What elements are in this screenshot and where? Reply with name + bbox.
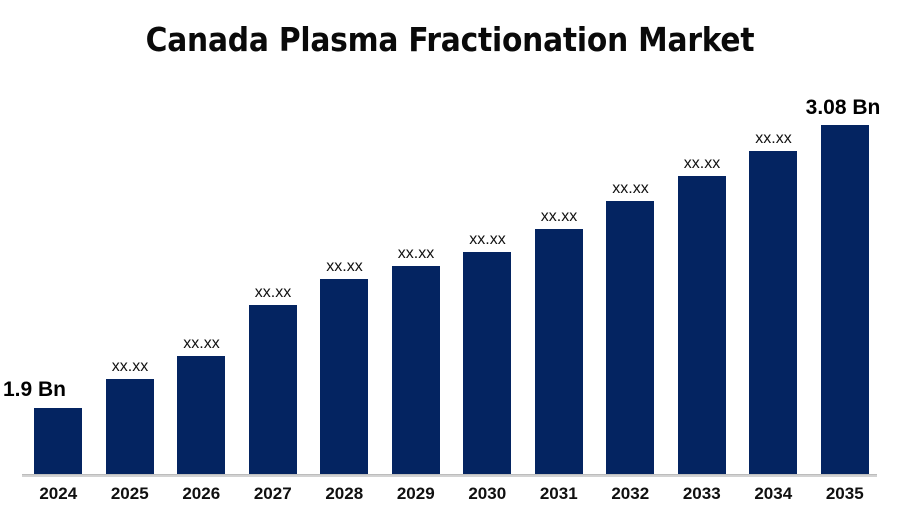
bar-group-2024: 1.9 Bn 2024 <box>23 0 95 525</box>
bar-group-2034: xx.xx 2034 <box>738 0 810 525</box>
bar-2029[interactable] <box>392 266 440 474</box>
bar-2034[interactable] <box>749 151 797 474</box>
bar-group-2030: xx.xx 2030 <box>452 0 524 525</box>
x-tick-label-2024: 2024 <box>23 484 95 504</box>
bar-value-label-2035: 3.08 Bn <box>793 96 893 120</box>
x-tick-label-2029: 2029 <box>380 484 452 504</box>
bar-2033[interactable] <box>678 176 726 474</box>
bar-group-2031: xx.xx 2031 <box>523 0 595 525</box>
bar-group-2035: 3.08 Bn 2035 <box>809 0 881 525</box>
bar-2027[interactable] <box>249 305 297 474</box>
x-tick-label-2032: 2032 <box>595 484 667 504</box>
chart-container: Canada Plasma Fractionation Market 1.9 B… <box>0 0 900 525</box>
bar-group-2029: xx.xx 2029 <box>380 0 452 525</box>
x-tick-label-2028: 2028 <box>309 484 381 504</box>
x-tick-label-2031: 2031 <box>523 484 595 504</box>
bar-2026[interactable] <box>177 356 225 474</box>
plot-area: 1.9 Bn 2024 xx.xx 2025 xx.xx 2026 xx.xx … <box>0 0 900 525</box>
x-tick-label-2034: 2034 <box>738 484 810 504</box>
bar-2031[interactable] <box>535 229 583 474</box>
bar-2025[interactable] <box>106 379 154 474</box>
bar-value-label-2024: 1.9 Bn <box>0 378 85 402</box>
bar-group-2026: xx.xx 2026 <box>166 0 238 525</box>
bar-2028[interactable] <box>320 279 368 474</box>
x-tick-label-2030: 2030 <box>452 484 524 504</box>
x-tick-label-2033: 2033 <box>666 484 738 504</box>
bar-2032[interactable] <box>606 201 654 474</box>
x-axis-line <box>22 474 877 477</box>
bar-2024[interactable] <box>34 408 82 474</box>
x-tick-label-2035: 2035 <box>809 484 881 504</box>
x-tick-label-2025: 2025 <box>94 484 166 504</box>
bar-group-2032: xx.xx 2032 <box>595 0 667 525</box>
bar-2030[interactable] <box>463 252 511 474</box>
bar-group-2025: xx.xx 2025 <box>94 0 166 525</box>
bar-group-2033: xx.xx 2033 <box>666 0 738 525</box>
x-tick-label-2027: 2027 <box>237 484 309 504</box>
x-tick-label-2026: 2026 <box>166 484 238 504</box>
bar-2035[interactable] <box>821 125 869 474</box>
